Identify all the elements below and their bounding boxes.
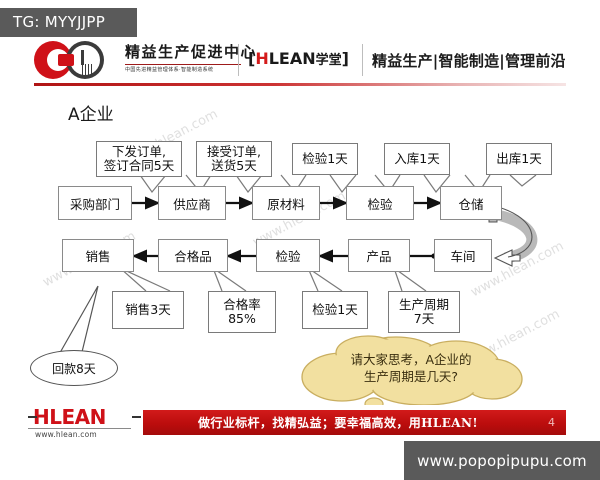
callout-inspect-1day-bottom[interactable]: 检验1天 bbox=[302, 291, 368, 329]
cloud-line-2: 生产周期是几天? bbox=[364, 369, 458, 386]
node-label: 产品 bbox=[366, 246, 391, 265]
node-workshop[interactable]: 车间 bbox=[434, 239, 492, 272]
callout-line-1: 出库1天 bbox=[496, 152, 541, 166]
footer-dash-right-icon bbox=[132, 416, 141, 418]
callout-outbound-1day[interactable]: 出库1天 bbox=[486, 143, 552, 175]
callout-line-2: 7天 bbox=[414, 312, 434, 326]
node-supplier[interactable]: 供应商 bbox=[158, 186, 226, 220]
callout-line-2: 85% bbox=[228, 312, 256, 326]
cloud-line-1: 请大家思考，A企业的 bbox=[350, 352, 471, 369]
node-label: 原材料 bbox=[267, 194, 305, 213]
node-raw-material[interactable]: 原材料 bbox=[252, 186, 320, 220]
node-inspection-2[interactable]: 检验 bbox=[256, 239, 320, 272]
node-product[interactable]: 产品 bbox=[348, 239, 410, 272]
node-inspection-1[interactable]: 检验 bbox=[346, 186, 414, 220]
footer-logo: HLEAN www.hlean.com bbox=[28, 407, 140, 437]
callout-line-1: 回款8天 bbox=[52, 360, 96, 377]
footer-slogan-bar: 做行业标杆，找精弘益；要幸福高效，用HLEAN! 4 bbox=[143, 410, 566, 435]
callout-line-1: 检验1天 bbox=[312, 303, 357, 317]
cloud-question-text: 请大家思考，A企业的 生产周期是几天? bbox=[296, 333, 526, 405]
node-label: 车间 bbox=[450, 246, 475, 265]
callout-inspect-1day-top[interactable]: 检验1天 bbox=[292, 143, 358, 175]
thought-cloud[interactable]: 请大家思考，A企业的 生产周期是几天? bbox=[296, 333, 526, 405]
callout-line-1: 生产周期 bbox=[399, 298, 449, 312]
footer-logo-text: HLEAN bbox=[28, 407, 140, 427]
callout-line-1: 接受订单, bbox=[207, 145, 261, 159]
node-qualified-product[interactable]: 合格品 bbox=[158, 239, 228, 272]
callout-accept-order[interactable]: 接受订单, 送货5天 bbox=[196, 141, 272, 177]
presentation-slide: TG: MYYJJPP 精益生产促进中心 中国先进精益管理体系·智能制造系统 [… bbox=[0, 0, 600, 480]
node-label: 供应商 bbox=[173, 194, 211, 213]
callout-line-2: 签订合同5天 bbox=[104, 159, 174, 173]
node-label: 合格品 bbox=[174, 246, 212, 265]
node-label: 采购部门 bbox=[70, 194, 120, 213]
callout-pass-rate[interactable]: 合格率 85% bbox=[208, 291, 276, 333]
node-label: 仓储 bbox=[458, 194, 483, 213]
footer-slogan: 做行业标杆，找精弘益；要幸福高效，用HLEAN! bbox=[143, 410, 533, 435]
site-watermark-overlay: www.popopipupu.com bbox=[404, 441, 600, 480]
callout-line-1: 入库1天 bbox=[394, 152, 439, 166]
callout-line-1: 销售3天 bbox=[125, 303, 170, 317]
node-purchasing-dept[interactable]: 采购部门 bbox=[58, 186, 132, 220]
callout-payment-collection[interactable]: 回款8天 bbox=[30, 350, 118, 386]
footer-logo-url: www.hlean.com bbox=[28, 428, 131, 439]
slide-footer: HLEAN www.hlean.com 做行业标杆，找精弘益；要幸福高效，用HL… bbox=[0, 405, 600, 441]
callout-inbound-1day[interactable]: 入库1天 bbox=[384, 143, 450, 175]
node-label: 检验 bbox=[367, 194, 392, 213]
callout-line-1: 合格率 bbox=[223, 298, 261, 312]
callout-sales-3days[interactable]: 销售3天 bbox=[112, 291, 184, 329]
node-label: 检验 bbox=[275, 246, 300, 265]
callout-line-2: 送货5天 bbox=[211, 159, 256, 173]
footer-dash-left-icon bbox=[28, 416, 37, 418]
page-number: 4 bbox=[548, 410, 555, 435]
callout-issue-order[interactable]: 下发订单, 签订合同5天 bbox=[96, 141, 182, 177]
node-sales[interactable]: 销售 bbox=[62, 239, 134, 272]
callout-line-1: 检验1天 bbox=[302, 152, 347, 166]
callout-production-cycle[interactable]: 生产周期 7天 bbox=[388, 291, 460, 333]
node-label: 销售 bbox=[85, 246, 110, 265]
callout-line-1: 下发订单, bbox=[112, 145, 166, 159]
node-warehouse[interactable]: 仓储 bbox=[440, 186, 502, 220]
